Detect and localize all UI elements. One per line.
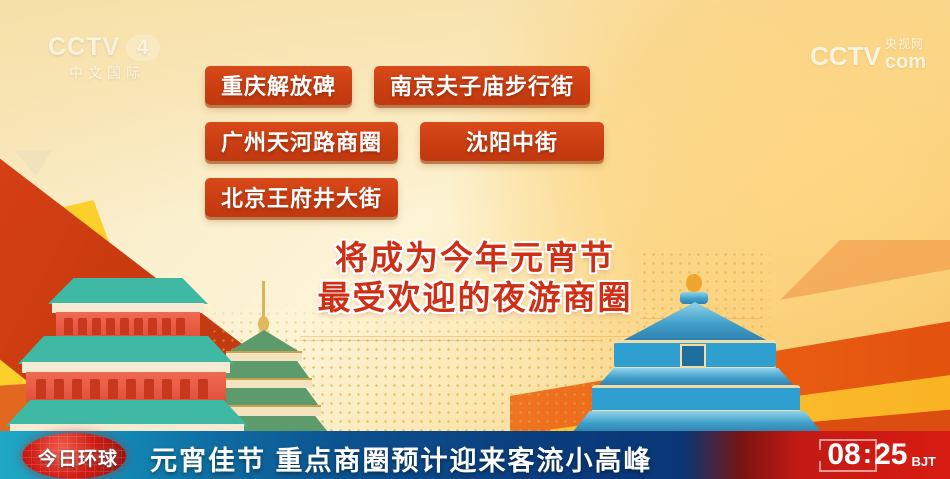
headline-line-2: 最受欢迎的夜游商圈 (0, 278, 950, 318)
chip-row-3: 北京王府井大街 (205, 178, 398, 217)
headline-line-1: 将成为今年元宵节 (0, 238, 950, 278)
site-logo-cn: 央视网 (885, 38, 926, 50)
halftone-skyline (210, 300, 730, 440)
site-logo-com: com (885, 52, 926, 72)
accent-rule-1 (300, 336, 650, 337)
location-chip-label: 广州天河路商圈 (221, 125, 382, 157)
ticker-headline: 元宵佳节 重点商圈预计迎来客流小高峰 (150, 439, 653, 478)
accent-rule-2 (300, 340, 600, 341)
location-chip[interactable]: 北京王府井大街 (205, 178, 398, 217)
site-logo-name: CCTV (810, 41, 881, 72)
clock: 08 : 25 BJT (827, 431, 936, 479)
program-brand-label: 今日环球 (30, 444, 126, 471)
news-ticker: 今日环球 元宵佳节 重点商圈预计迎来客流小高峰 08 : 25 BJT (0, 431, 950, 479)
chip-row-1: 重庆解放碑 南京夫子庙步行街 (205, 66, 590, 105)
site-logo: CCTV 央视网 com (810, 38, 926, 72)
location-chip[interactable]: 广州天河路商圈 (205, 122, 398, 161)
channel-logo-name: CCTV (48, 33, 120, 62)
location-chip[interactable]: 南京夫子庙步行街 (374, 66, 590, 105)
chip-row-2: 广州天河路商圈 沈阳中街 (205, 122, 604, 161)
headline-block: 将成为今年元宵节 最受欢迎的夜游商圈 (0, 238, 950, 319)
location-chip[interactable]: 沈阳中街 (420, 122, 604, 161)
location-chip-label: 北京王府井大街 (221, 181, 382, 213)
orange-ribbon-right (510, 300, 950, 450)
channel-logo: CCTV 4 中文国际 (48, 33, 166, 83)
clock-minutes: 25 (874, 438, 907, 472)
location-chip-label: 沈阳中街 (466, 125, 558, 157)
location-chip-label: 重庆解放碑 (221, 69, 336, 101)
broadcast-screen: CCTV 4 中文国际 CCTV 央视网 com 重庆解放碑 南京夫子庙步行街 … (0, 0, 950, 479)
channel-logo-number: 4 (126, 35, 160, 61)
orange-ribbon-lower-left (0, 368, 270, 438)
ribbon-fold (14, 150, 52, 176)
location-chip-label: 南京夫子庙步行街 (390, 69, 574, 101)
channel-logo-subtitle: 中文国际 (48, 63, 166, 83)
location-chip[interactable]: 重庆解放碑 (205, 66, 352, 105)
clock-separator: : (863, 438, 872, 470)
clock-timezone: BJT (911, 454, 936, 469)
